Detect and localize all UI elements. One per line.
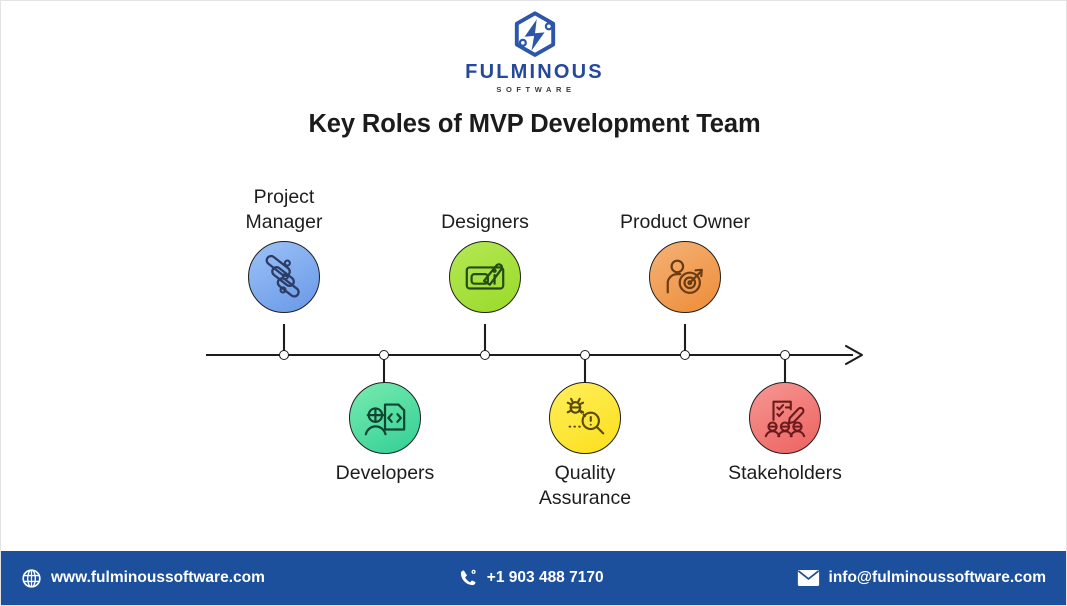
footer-website[interactable]: www.fulminoussoftware.com xyxy=(21,568,265,589)
timeline-node xyxy=(480,350,490,360)
footer-phone-text: +1 903 488 7170 xyxy=(487,569,604,587)
role-quality-assurance[interactable]: Quality Assurance xyxy=(480,382,690,511)
footer-email-text: info@fulminoussoftware.com xyxy=(829,569,1046,587)
globe-icon xyxy=(21,568,42,589)
role-label: Developers xyxy=(280,461,490,486)
role-icon-bubble xyxy=(549,382,621,454)
page-title: Key Roles of MVP Development Team xyxy=(1,110,1067,139)
developer-code-icon xyxy=(362,395,408,441)
footer-email[interactable]: info@fulminoussoftware.com xyxy=(797,569,1046,587)
role-label: Designers xyxy=(380,210,590,235)
phone-icon xyxy=(458,568,478,588)
logo-sub-wordmark: SOFTWARE xyxy=(493,85,575,94)
role-label: Project Manager xyxy=(179,185,389,235)
role-project-manager[interactable]: Project Manager xyxy=(179,185,389,313)
role-icon-bubble xyxy=(749,382,821,454)
role-icon-bubble xyxy=(349,382,421,454)
role-icon-bubble xyxy=(449,241,521,313)
brand-logo: FULMINOUS SOFTWARE xyxy=(1,9,1067,94)
role-designers[interactable]: Designers xyxy=(380,210,590,313)
role-developers[interactable]: Developers xyxy=(280,382,490,486)
role-label: Product Owner xyxy=(580,210,790,235)
role-product-owner[interactable]: Product Owner xyxy=(580,210,790,313)
logo-wordmark: FULMINOUS xyxy=(465,62,604,82)
role-icon-bubble xyxy=(649,241,721,313)
timeline-node xyxy=(780,350,790,360)
timeline-node xyxy=(680,350,690,360)
hexagon-bolt-logo-icon xyxy=(509,9,561,61)
role-icon-bubble xyxy=(248,241,320,313)
timeline-node xyxy=(279,350,289,360)
role-stakeholders[interactable]: Stakeholders xyxy=(680,382,890,486)
checklist-people-icon xyxy=(762,395,808,441)
role-label: Stakeholders xyxy=(680,461,890,486)
role-label: Quality Assurance xyxy=(480,461,690,511)
task-bars-icon xyxy=(261,254,307,300)
person-target-icon xyxy=(662,254,708,300)
timeline: Project Manager Designer xyxy=(1,151,1067,541)
bug-magnifier-icon xyxy=(562,395,608,441)
drawing-tablet-icon xyxy=(462,254,508,300)
timeline-node xyxy=(580,350,590,360)
contact-footer: www.fulminoussoftware.com +1 903 488 717… xyxy=(1,551,1067,605)
envelope-icon xyxy=(797,569,820,587)
timeline-node xyxy=(379,350,389,360)
footer-website-text: www.fulminoussoftware.com xyxy=(51,569,265,587)
infographic-canvas: FULMINOUS SOFTWARE Key Roles of MVP Deve… xyxy=(0,0,1067,606)
footer-phone[interactable]: +1 903 488 7170 xyxy=(458,568,604,588)
